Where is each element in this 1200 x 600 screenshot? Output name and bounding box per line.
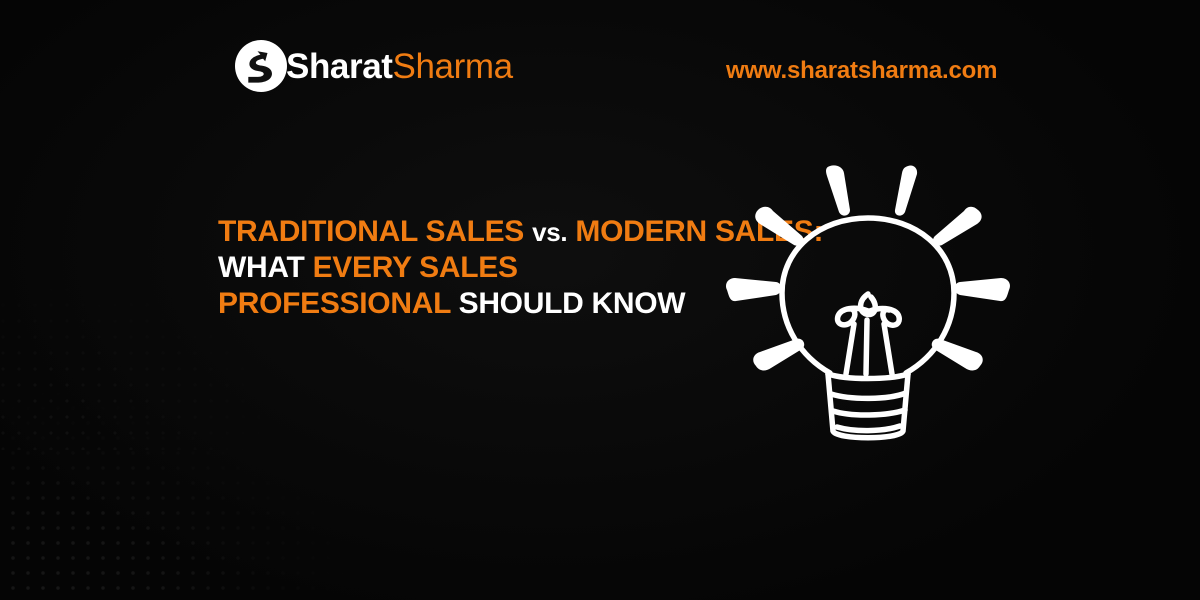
- site-url[interactable]: www.sharatsharma.com: [726, 57, 997, 85]
- lightbulb-illustration: [718, 148, 1018, 458]
- brand-logo[interactable]: SharatSharma: [233, 36, 513, 96]
- headline-segment: WHAT: [218, 251, 305, 284]
- brand-name-first: Sharat: [286, 49, 393, 84]
- halftone-dot-texture: [0, 300, 540, 600]
- headline-segment: SHOULD KNOW: [459, 287, 686, 320]
- headline-segment: PROFESSIONAL: [218, 287, 451, 320]
- headline-line-3: PROFESSIONAL SHOULD KNOW: [218, 286, 738, 322]
- header: SharatSharma www.sharatsharma.com: [0, 0, 1200, 130]
- headline-segment: TRADITIONAL SALES: [218, 215, 524, 248]
- banner-canvas: SharatSharma www.sharatsharma.com TRADIT…: [0, 0, 1200, 600]
- circular-s-arrow-logo-icon: [233, 38, 289, 94]
- page-title: TRADITIONAL SALES vs. MODERN SALES: WHAT…: [218, 214, 738, 322]
- brand-name-second: Sharma: [393, 49, 513, 84]
- headline-line-1: TRADITIONAL SALES vs. MODERN SALES:: [218, 214, 738, 250]
- brand-wordmark: SharatSharma: [286, 49, 513, 84]
- headline-line-2: WHAT EVERY SALES: [218, 250, 738, 286]
- headline-segment: EVERY SALES: [313, 251, 518, 284]
- lightbulb-doodle-icon: [718, 148, 1018, 458]
- headline-segment-vs: vs.: [532, 217, 567, 247]
